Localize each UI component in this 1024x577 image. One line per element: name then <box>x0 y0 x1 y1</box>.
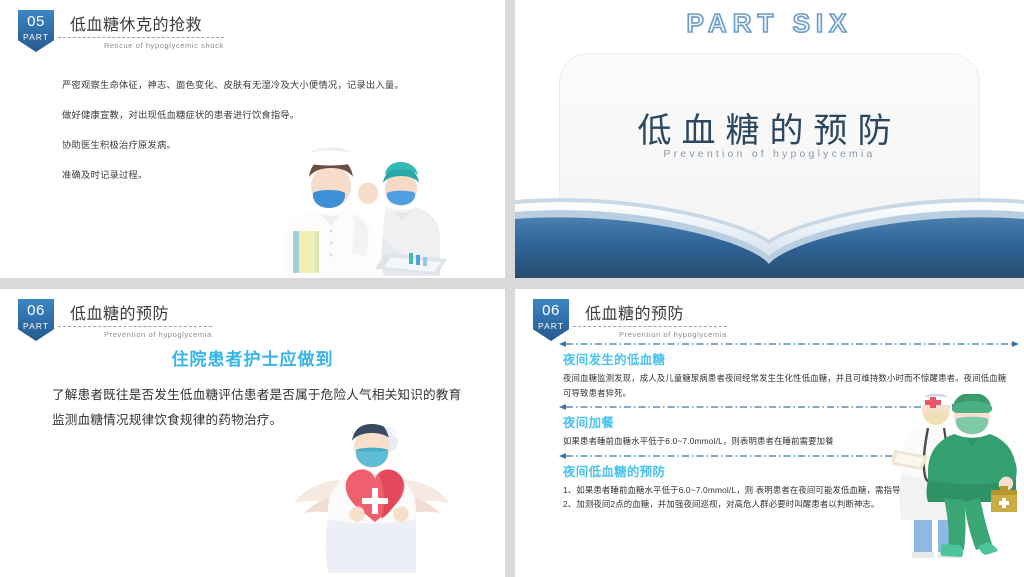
slide-grid: 05 PART 低血糖休克的抢救 Rescue of hypoglycemic … <box>0 0 1024 577</box>
cover-title-en: Prevention of hypoglycemia <box>515 148 1024 160</box>
badge-number: 06 <box>533 299 569 321</box>
slide-prevention-nurse-duties: 06 PART 低血糖的预防 Prevention of hypoglycemi… <box>0 289 505 577</box>
slide-header: 05 PART 低血糖休克的抢救 Rescue of hypoglycemic … <box>18 10 224 52</box>
two-doctors-walking-illustration <box>892 394 1022 559</box>
header-text: 低血糖的预防 Prevention of hypoglycemia <box>583 299 727 339</box>
badge-part-label: PART <box>533 321 569 331</box>
part-badge: 06 PART <box>533 299 569 341</box>
slide-header: 06 PART 低血糖的预防 Prevention of hypoglycemi… <box>533 299 727 341</box>
slide-section-cover-part-six: PART SIX 低血糖的预防 Prevention of hypoglycem… <box>515 0 1024 278</box>
slide-title-cn: 低血糖休克的抢救 <box>68 11 224 37</box>
slide-rescue-of-hypoglycemic-shock: 05 PART 低血糖休克的抢救 Rescue of hypoglycemic … <box>0 0 505 278</box>
section-heading: 夜间发生的低血糖 <box>563 350 1012 368</box>
header-text: 低血糖休克的抢救 Rescue of hypoglycemic shock <box>68 10 224 50</box>
badge-part-label: PART <box>18 321 54 331</box>
slide-title-cn: 低血糖的预防 <box>583 300 727 326</box>
two-nurses-illustration <box>273 131 463 276</box>
cover-title-cn: 低血糖的预防 <box>515 103 1024 152</box>
dash-dot-divider <box>559 340 1012 348</box>
slide-title-en: Rescue of hypoglycemic shock <box>68 38 224 50</box>
nurse-holding-heart-illustration <box>288 423 453 573</box>
slide-title-cn: 低血糖的预防 <box>68 300 212 326</box>
bullet-line: 严密观察生命体征，神志、面色变化、皮肤有无湿冷及大小便情况，记录出入量。 <box>62 78 462 92</box>
slide-prevention-night-hypoglycemia: 06 PART 低血糖的预防 Prevention of hypoglycemi… <box>515 289 1024 577</box>
part-badge: 05 PART <box>18 10 54 52</box>
slide-title-en: Prevention of hypoglycemia <box>68 327 212 339</box>
section-body: 如果患者睡前血糖水平低于6.0~7.0mmol/L，则表明患者在睡前需要加餐 <box>563 434 893 449</box>
badge-number: 06 <box>18 299 54 321</box>
part-badge: 06 PART <box>18 299 54 341</box>
part-six-label: PART SIX <box>515 8 1024 39</box>
section-heading: 住院患者护士应做到 <box>0 345 505 370</box>
badge-number: 05 <box>18 10 54 32</box>
blue-wave-decoration <box>515 178 1024 278</box>
slide-header: 06 PART 低血糖的预防 Prevention of hypoglycemi… <box>18 299 212 341</box>
header-text: 低血糖的预防 Prevention of hypoglycemia <box>68 299 212 339</box>
bullet-line: 做好健康宣教，对出现低血糖症状的患者进行饮食指导。 <box>62 108 462 122</box>
badge-part-label: PART <box>18 32 54 42</box>
